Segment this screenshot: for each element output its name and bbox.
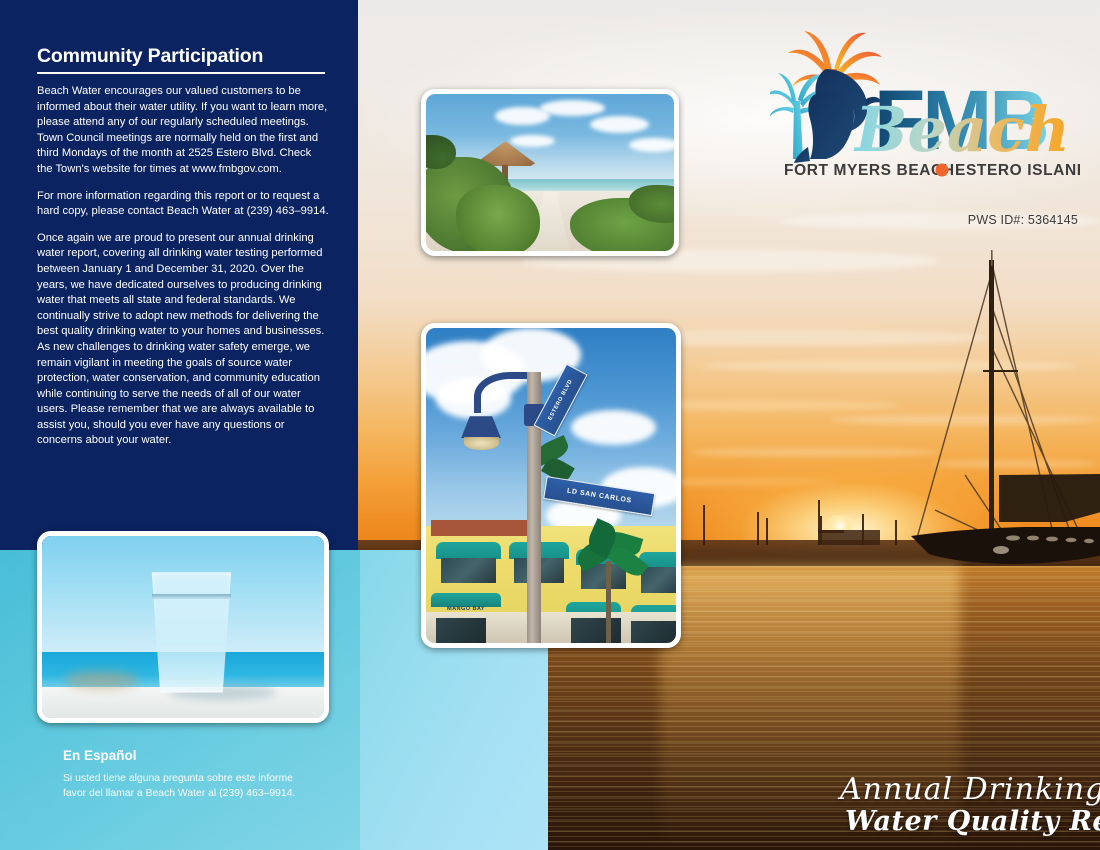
title-underline [37, 72, 325, 74]
paragraph: Beach Water encourages our valued custom… [37, 84, 329, 178]
street-lamp-glass [464, 437, 499, 450]
beach-tiki-hut-photo [421, 89, 679, 256]
fmb-beach-logo: FMB Beach FORT MYERS BEACH ESTERO ISLAND [770, 25, 1080, 180]
distant-mast [766, 518, 768, 545]
distant-building [820, 530, 880, 545]
water-line [152, 594, 231, 598]
drinking-glass [149, 572, 234, 692]
espanol-body: Si usted tiene alguna pregunta sobre est… [63, 771, 313, 801]
page-title: Community Participation [37, 45, 327, 68]
palm-trunk [606, 561, 611, 643]
building-roof [431, 520, 531, 536]
storefront-window [631, 621, 676, 643]
cover-title-line-1: Annual Drinking [840, 772, 1100, 807]
paragraph: Once again we are proud to present our a… [37, 231, 329, 449]
sun-dot-icon [936, 164, 949, 177]
paragraph: For more information regarding this repo… [37, 189, 329, 220]
window [441, 558, 496, 583]
logo-tagline-left: FORT MYERS BEACH [784, 162, 955, 179]
pws-id-label: PWS ID#: 5364145 [968, 213, 1078, 227]
logo-tagline-right: ESTERO ISLAND [955, 162, 1080, 179]
storefront-window [571, 618, 621, 643]
photo-background-blur [65, 671, 138, 689]
estero-blvd-street-photo: MANGO BAY ESTERO BLVD LD SAN CARLOS [421, 323, 681, 648]
awning [436, 542, 501, 558]
year-label-wrap: 2020 [758, 640, 848, 830]
cloud [540, 100, 604, 116]
distant-mast [757, 512, 759, 545]
cover-title-line-2: Water Quality Report [845, 806, 1100, 837]
distant-mast [703, 505, 705, 545]
glass-of-water-photo [37, 531, 329, 723]
cloud [571, 410, 656, 445]
sailboat-silhouette [905, 250, 1100, 580]
logo-beach-script: Beach [853, 93, 1070, 166]
community-participation-body: Beach Water encourages our valued custom… [37, 84, 329, 460]
storefront-window [436, 618, 486, 643]
photo-sea-oats [456, 185, 540, 251]
cloud [629, 138, 674, 152]
espanol-heading: En Español [63, 748, 137, 763]
brochure-cover-page: FMB Beach FORT MYERS BEACH ESTERO ISLAND… [0, 0, 1100, 850]
distant-mast [895, 520, 897, 545]
mango-bay-awning [431, 593, 501, 607]
window [641, 567, 676, 592]
